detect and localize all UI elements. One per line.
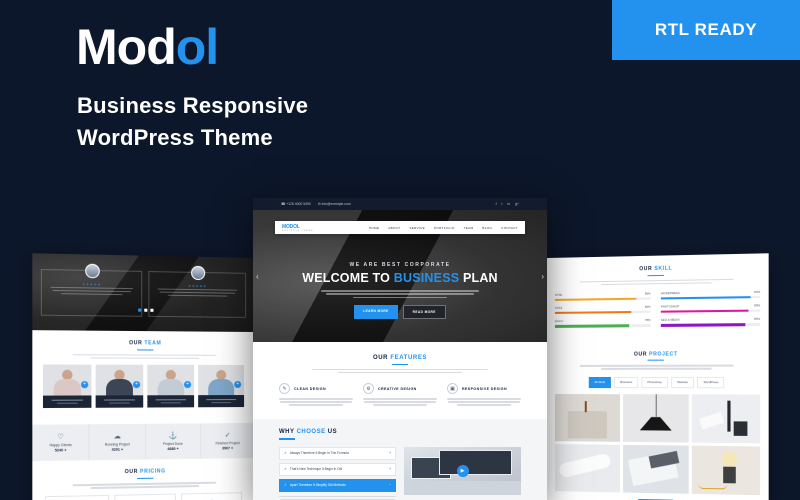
nav-item-home[interactable]: HOME [369,226,379,230]
features-heading: OUR FEATURES [253,355,547,361]
avatar [191,265,205,279]
play-icon[interactable]: ▶ [457,465,469,477]
nav-item-about[interactable]: ABOUT [388,226,400,230]
lamp-hand-photo[interactable] [692,445,760,495]
site-logo[interactable]: MODOL BUSINESS THEME [282,224,314,232]
rtl-ready-badge: RTL READY [612,0,800,60]
top-contact-bar: ☎ +125 4000 5490 ✉ info@exemple.com f t … [253,198,547,210]
rating-stars: ★★★★★ [155,283,241,288]
filter-photoshop[interactable]: Photoshop [641,377,667,388]
projects-description [580,365,734,370]
googleplus-icon[interactable]: g+ [515,202,519,206]
skill-percent: 78% [645,318,651,322]
pricing-card[interactable]: ✦ Business Plane $99 [181,492,242,500]
stat-label: Finished Project [201,441,254,446]
skill-item: CSS380% [555,305,651,314]
nav-item-contact[interactable]: CONTACT [501,226,518,230]
accordion-label: Always Therefore It Begin In The Formula [290,451,349,455]
skill-percent: 85% [754,317,760,321]
projects-heading: OUR PROJECT [547,350,769,357]
feature-title: RESPONSIVE DESIGN [462,387,507,391]
pricing-card[interactable]: ✈ Business Plane $50 [45,494,109,500]
skill-percent: 88% [754,304,760,308]
skills-description [580,279,734,286]
team-member-card[interactable]: + [96,365,144,408]
brand-name-accent: ol [176,19,218,75]
feature-item: ▣ RESPONSIVE DESIGN [447,383,521,407]
main-navbar: MODOL BUSINESS THEME HOME ABOUT SERVICE … [275,221,525,234]
tagline-line-1: Business Responsive [77,90,308,122]
pricing-description [73,482,217,489]
brand-name-primary: Mod [76,19,176,75]
stat-value: 3907 + [201,446,254,451]
hero-section: MODOL BUSINESS THEME HOME ABOUT SERVICE … [253,210,547,342]
team-member-card[interactable]: + [147,365,194,408]
progress-track [661,323,760,327]
site-logo-tagline: BUSINESS THEME [282,230,314,232]
stats-bar: ♡ Happy Clients 5240 + ☁ Running Project… [32,423,254,461]
project-gallery [547,388,769,495]
progress-track [661,296,760,300]
accordion: ✓ Always Therefore It Begin In The Formu… [279,447,396,500]
filter-wordpress[interactable]: WordPress [697,377,724,388]
feature-description [279,398,353,405]
skill-label: SEO & MEDIA [661,318,680,322]
read-more-button[interactable]: READ MORE [403,305,446,319]
phone-number[interactable]: ☎ +125 4000 5490 [281,202,311,206]
left-screenshot-mockup[interactable]: ★★★★★ ★★★★★ OUR TEAM [32,253,254,500]
skill-label: PHOTOSHOP [661,305,679,309]
filter-business[interactable]: Business [614,377,638,388]
feature-title: CREATIVE DESIGN [378,387,417,391]
nav-item-portfolio[interactable]: PORTFOLIO [434,226,455,230]
team-section: OUR TEAM + + + [32,330,254,417]
skill-item: HTML85% [555,292,651,302]
team-description [73,354,217,359]
pendant-lamp-photo[interactable] [623,394,689,442]
stat-value: 5240 + [32,448,88,453]
progress-track [555,297,651,301]
team-member-card[interactable]: + [43,365,91,409]
team-heading: OUR TEAM [32,340,254,347]
team-grid: + + + + [32,365,254,409]
check-icon: ✓ [284,451,287,455]
progress-track [555,311,651,315]
heading-underline [648,360,664,361]
nav-item-service[interactable]: SERVICE [409,226,425,230]
white-device-photo[interactable] [555,444,620,492]
stat-item: ⚓ Project Done 4680 + [146,424,201,460]
center-screenshot-mockup[interactable]: ☎ +125 4000 5490 ✉ info@exemple.com f t … [253,198,547,500]
check-icon: ✓ [284,483,287,487]
nav-menu: HOME ABOUT SERVICE PORTFOLIO TEAM BLOG C… [369,226,518,230]
heading-underline [137,477,153,479]
skill-label: jQuery [555,319,563,323]
hero-subtitle: WE ARE BEST CORPORATE [253,262,547,268]
slider-dots[interactable] [32,297,254,318]
cloud-icon: ☁ [90,432,145,441]
accordion-item-active[interactable]: ✓ Apart Therefore It Simplify Old Method… [279,479,396,492]
skill-item: PHOTOSHOP88% [661,304,760,314]
stat-label: Happy Clients [32,443,88,448]
hero-description [321,290,479,298]
email-address[interactable]: ✉ info@exemple.com [318,202,351,206]
features-description [312,369,488,373]
skill-label: CSS3 [555,306,562,310]
heart-icon: ♡ [32,433,88,442]
rtl-ready-label: RTL READY [655,20,757,40]
learn-more-button[interactable]: LEARN MORE [354,305,397,319]
hero-title: WELCOME TO BUSINESS PLAN [253,271,547,285]
skills-section: OUR SKILL HTML85% CSS380% [547,253,769,342]
accordion-label: Apart Therefore It Simplify Old Methods [290,483,346,487]
check-icon: ✓ [284,467,287,471]
skill-percent: 85% [645,292,651,296]
rating-stars: ★★★★★ [47,281,136,287]
stat-item: ♡ Happy Clients 5240 + [32,425,89,462]
testimonial-section: ★★★★★ ★★★★★ [32,253,254,332]
check-icon: ✓ [201,431,254,440]
social-links[interactable]: f t in g+ [496,202,519,206]
filter-all-work[interactable]: All Work [588,377,611,388]
team-member-name [43,396,91,409]
pricing-section: OUR PRICING ✈ Business Plane $50 ☰ Busin… [32,458,254,500]
team-member-name [147,395,194,407]
nav-item-team[interactable]: TEAM [464,226,474,230]
skills-column-left: HTML85% CSS380% jQuery78% [555,292,651,333]
choose-heading: WHY CHOOSE US [253,429,547,435]
feature-item: ⚙ CREATIVE DESIGN [363,383,437,407]
team-member-card[interactable]: + [198,365,244,407]
avatar [85,263,100,278]
progress-track [555,324,651,328]
accordion-body-text [279,496,396,500]
heading-underline [392,364,408,365]
skill-percent: 80% [645,305,651,309]
stationery-photo[interactable] [692,394,760,443]
progress-track [661,309,760,313]
heading-underline [648,274,664,276]
gear-icon: ⚙ [363,383,374,394]
project-filter-tabs: All Work Business Photoshop Website Word… [547,377,769,388]
feature-title: CLEAN DESIGN [294,387,326,391]
accordion-label: That's New Technique It Begin In Old [290,467,342,471]
right-screenshot-mockup[interactable]: OUR SKILL HTML85% CSS380% [547,253,769,500]
paper-bag-photo[interactable] [555,394,620,442]
tagline-line-2: WordPress Theme [77,122,308,154]
expand-icon[interactable]: + [389,467,391,471]
skill-item: jQuery78% [555,318,651,327]
nav-item-blog[interactable]: BLOG [482,226,492,230]
features-section: OUR FEATURES ✎ CLEAN DESIGN ⚙ [253,342,547,419]
anchor-icon: ⚓ [146,432,200,441]
linkedin-icon[interactable]: in [507,202,510,206]
tagline: Business Responsive WordPress Theme [77,90,308,154]
feature-item: ✎ CLEAN DESIGN [279,383,353,407]
stat-value: 4680 + [146,447,200,452]
monitor-icon: ▣ [447,383,458,394]
skills-heading: OUR SKILL [547,264,769,274]
pricing-card[interactable]: ☰ Business Plane $75 [114,493,176,500]
filter-website[interactable]: Website [671,377,694,388]
skill-percent: 90% [754,290,760,294]
collapse-icon[interactable]: − [389,483,391,487]
team-member-name [198,395,244,407]
stat-value: 4201 + [90,448,145,453]
skill-item: SEO & MEDIA85% [661,317,760,326]
pencil-icon: ✎ [279,383,290,394]
skills-column-right: WORDPRESS90% PHOTOSHOP88% SEO & MEDIA85% [661,290,760,332]
accordion-item[interactable]: ✓ That's New Technique It Begin In Old + [279,463,396,476]
team-member-name [96,396,144,408]
stat-item: ☁ Running Project 4201 + [90,424,146,460]
skill-label: HTML [555,293,563,297]
video-thumbnail[interactable]: ▶ [404,447,521,495]
page-title: Modol [76,22,218,72]
stat-label: Running Project [90,442,145,447]
heading-underline [137,349,153,351]
stat-item: ✓ Finished Project 3907 + [201,423,254,459]
facebook-icon[interactable]: f [496,202,497,206]
why-choose-us-section: WHY CHOOSE US ✓ Always Therefore It Begi… [253,419,547,500]
calculator-photo[interactable] [623,445,689,494]
expand-icon[interactable]: + [389,451,391,455]
feature-description [363,398,437,405]
skill-item: WORDPRESS90% [661,290,760,300]
feature-description [447,398,521,405]
skill-label: WORDPRESS [661,291,680,295]
pricing-heading: OUR PRICING [32,467,254,477]
pricing-grid: ✈ Business Plane $50 ☰ Business Plane $7… [32,492,254,500]
projects-section: OUR PROJECT All Work Business Photoshop … [547,341,769,500]
stat-label: Project Done [146,442,200,447]
twitter-icon[interactable]: t [502,202,503,206]
accordion-item[interactable]: ✓ Always Therefore It Begin In The Formu… [279,447,396,460]
